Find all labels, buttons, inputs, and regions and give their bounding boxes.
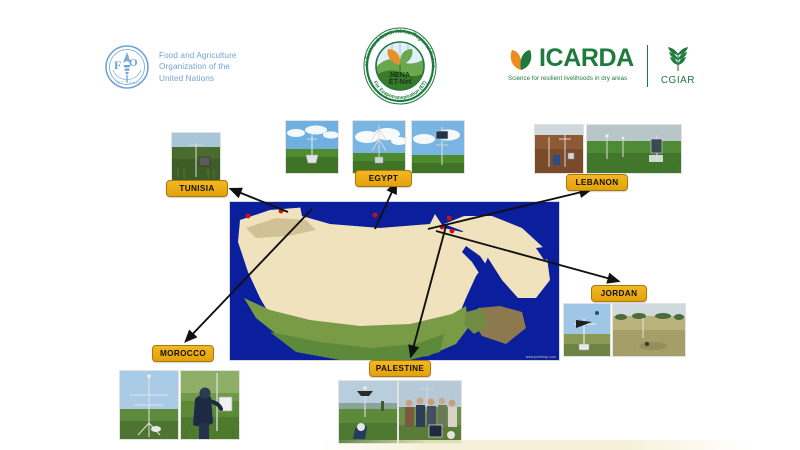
icarda-leaf-icon <box>508 45 535 72</box>
svg-text:O: O <box>129 57 138 69</box>
photo-morocco-1[interactable] <box>119 370 179 440</box>
cgiar-wordmark: CGIAR <box>661 75 695 86</box>
presentation-slide: F O FIAT PANIS Food and Agriculture Orga… <box>0 0 800 450</box>
fao-logo-text: Food and Agriculture Organization of the… <box>159 50 237 85</box>
photo-lebanon-1[interactable] <box>534 124 584 174</box>
icarda-block: ICARDA Science for resilient livelihoods… <box>508 45 634 82</box>
badge-morocco[interactable]: MOROCCO <box>152 345 214 362</box>
region-map[interactable]: www.printmap.com <box>229 201 560 361</box>
photo-jordan-2[interactable] <box>612 303 686 357</box>
badge-egypt[interactable]: EGYPT <box>355 170 412 187</box>
icarda-cgiar-logo: ICARDA Science for resilient livelihoods… <box>508 45 695 87</box>
svg-text:FIAT PANIS: FIAT PANIS <box>113 81 142 85</box>
nena-et-net-logo: Near East and North Africa Regional Netw… <box>356 27 444 105</box>
photo-egypt-1[interactable] <box>285 120 339 174</box>
photo-tunisia-1[interactable] <box>171 132 221 182</box>
svg-text:NENA: NENA <box>390 72 410 79</box>
bottom-gradient <box>320 440 750 450</box>
photo-morocco-2[interactable] <box>180 370 240 440</box>
photo-egypt-2[interactable] <box>352 120 406 174</box>
badge-palestine[interactable]: PALESTINE <box>369 360 431 377</box>
badge-tunisia[interactable]: TUNISIA <box>166 180 228 197</box>
logo-divider <box>647 45 648 87</box>
logo-row: F O FIAT PANIS Food and Agriculture Orga… <box>0 0 800 115</box>
svg-text:F: F <box>114 58 121 72</box>
photo-jordan-1[interactable] <box>563 303 611 357</box>
icarda-tagline: Science for resilient livelihoods in dry… <box>508 75 634 82</box>
badge-jordan[interactable]: JORDAN <box>591 285 647 302</box>
photo-egypt-3[interactable] <box>411 120 465 174</box>
fao-logo: F O FIAT PANIS Food and Agriculture Orga… <box>104 44 237 90</box>
photo-palestine-2[interactable] <box>398 380 462 444</box>
cgiar-wheat-icon <box>663 45 693 73</box>
photo-lebanon-2[interactable] <box>586 124 682 174</box>
cgiar-block: CGIAR <box>661 45 695 86</box>
map-watermark: www.printmap.com <box>526 355 556 359</box>
badge-lebanon[interactable]: LEBANON <box>566 174 628 191</box>
svg-text:ET-Net: ET-Net <box>389 79 412 86</box>
icarda-wordmark: ICARDA <box>539 46 634 71</box>
fao-emblem-icon: F O FIAT PANIS <box>104 44 150 90</box>
photo-palestine-1[interactable] <box>338 380 398 444</box>
